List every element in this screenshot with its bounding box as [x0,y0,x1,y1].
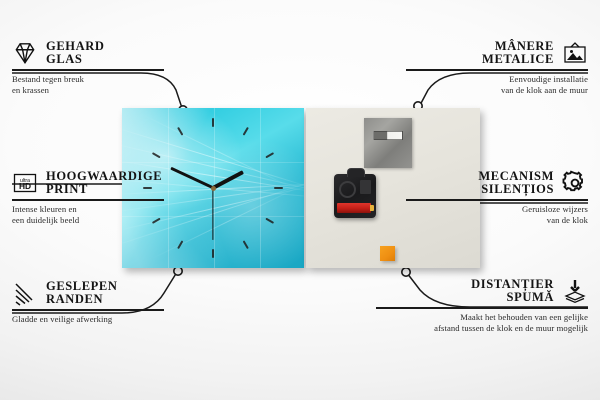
callout-title: MECANISM SILENȚIOS [478,170,554,196]
callout-title: GEHARD GLAS [46,40,104,66]
clock-minute-hand [170,167,214,190]
callout-rule [376,307,588,309]
clock-center-pin [211,186,216,191]
callout-subtitle: Geruisloze wijzers van de klok [406,204,588,226]
callout-distantier-spuma: DISTANȚIER SPUMĂ Maakt het behouden van … [376,278,588,334]
callout-title: GESLEPEN RANDEN [46,280,118,306]
clock-mechanism [334,174,376,218]
mechanism-panel [360,180,371,194]
callout-rule [12,199,164,201]
callout-rule [406,199,588,201]
clock-second-hand [212,188,213,240]
callout-title-row: DISTANȚIER SPUMĂ [376,278,588,304]
mechanism-hang-tab [347,168,365,177]
callout-title: MÂNERE METALICE [482,40,554,66]
callout-title-row: GESLEPEN RANDEN [12,280,164,306]
diagonal-edges-icon [12,280,38,306]
svg-text:HD: HD [19,181,31,191]
foam-spacer [380,246,395,261]
ultra-hd-icon: ultra HD [12,170,38,196]
callout-title-row: MÂNERE METALICE [406,40,588,66]
spacer-arrow-icon [562,278,588,304]
callout-rule [406,69,588,71]
battery-terminal [370,205,374,211]
diamond-icon [12,40,38,66]
callout-rule [12,309,164,311]
callout-subtitle: Intense kleuren en een duidelijk beeld [12,204,164,226]
callout-subtitle: Maakt het behouden van een gelijke afsta… [376,312,588,334]
mechanism-dial [339,181,356,198]
picture-frame-icon [562,40,588,66]
anchor-distantier-spuma [402,268,410,276]
callout-mecanism-silentios: MECANISM SILENȚIOS Geruisloze wijzers va… [406,170,588,226]
callout-subtitle: Gladde en veilige afwerking [12,314,164,325]
gear-icon [562,170,588,196]
aa-battery [337,203,371,213]
callout-manere-metalice: MÂNERE METALICE Eenvoudige installatie v… [406,40,588,96]
callout-title: HOOGWAARDIGE PRINT [46,170,162,196]
callout-geslepen-randen: GESLEPEN RANDEN Gladde en veilige afwerk… [12,280,164,325]
callout-rule [12,69,164,71]
infographic-stage: GEHARD GLAS Bestand tegen breuk en krass… [0,0,600,400]
metal-hanger-plate [364,118,412,168]
anchor-geslepen-randen [174,267,182,275]
callout-title-row: GEHARD GLAS [12,40,164,66]
clock-hour-hand [212,170,244,189]
callout-hoogwaardige-print: ultra HD HOOGWAARDIGE PRINT Intense kleu… [12,170,164,226]
callout-subtitle: Eenvoudige installatie van de klok aan d… [406,74,588,96]
callout-gehard-glas: GEHARD GLAS Bestand tegen breuk en krass… [12,40,164,96]
callout-title-row: ultra HD HOOGWAARDIGE PRINT [12,170,164,196]
callout-title: DISTANȚIER SPUMĂ [471,278,554,304]
hanger-slot [373,131,403,140]
callout-title-row: MECANISM SILENȚIOS [406,170,588,196]
callout-subtitle: Bestand tegen breuk en krassen [12,74,164,96]
